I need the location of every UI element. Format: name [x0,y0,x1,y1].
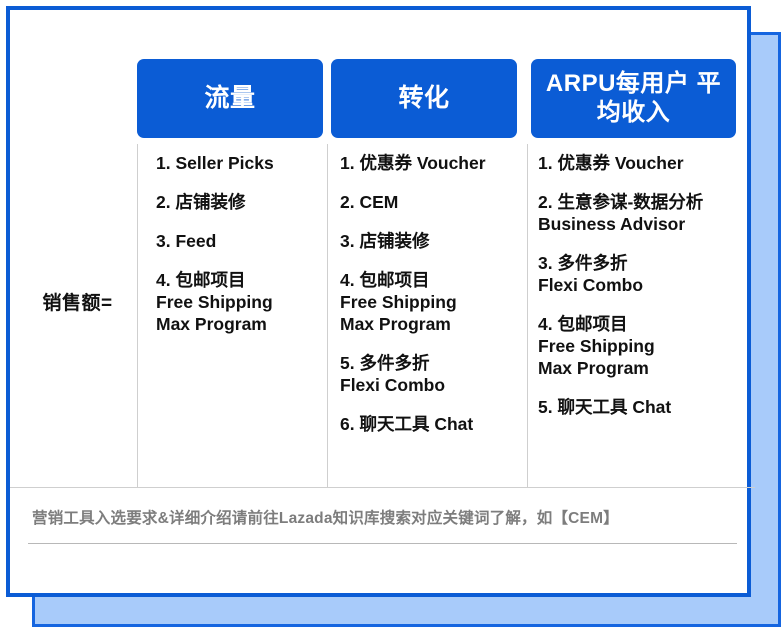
tool-list-item-line: 1. 优惠券 Voucher [340,152,520,174]
tool-list-item-line: 4. 包邮项目 [340,269,520,291]
tool-list-item[interactable]: 4. 包邮项目Free ShippingMax Program [538,313,743,379]
tool-list-item-line: 3. 店铺装修 [340,230,520,252]
tool-list-item-line: 1. 优惠券 Voucher [538,152,743,174]
tool-list-item[interactable]: 2. CEM [340,191,520,213]
column-body-conversion: 1. 优惠券 Voucher2. CEM3. 店铺装修4. 包邮项目Free S… [340,152,520,435]
tool-list-item-line: 6. 聊天工具 Chat [340,413,520,435]
tool-list-item-line: Business Advisor [538,213,743,235]
marketing-tool-matrix: 销售额= 流量 转化 ARPU每用户 平均收入 1. Seller Picks2… [10,10,747,593]
tool-list-item-line: Flexi Combo [340,374,520,396]
row-label-sales: 销售额= [20,288,135,315]
tool-list-item[interactable]: 1. Seller Picks [156,152,321,174]
tool-list-item[interactable]: 1. 优惠券 Voucher [340,152,520,174]
tool-list-item-line: 5. 多件多折 [340,352,520,374]
tool-list-item-line: 3. 多件多折 [538,252,743,274]
tool-list-item-line: Max Program [538,357,743,379]
tool-list-item[interactable]: 2. 店铺装修 [156,191,321,213]
tool-list-item[interactable]: 3. Feed [156,230,321,252]
column-body-traffic: 1. Seller Picks2. 店铺装修3. Feed4. 包邮项目Free… [156,152,321,335]
tool-list-item[interactable]: 4. 包邮项目Free ShippingMax Program [340,269,520,335]
tool-list-item-line: 2. 店铺装修 [156,191,321,213]
column-header-arpu-line-1: ARPU每用户 [546,70,690,97]
tool-list-item-line: 5. 聊天工具 Chat [538,396,743,418]
column-header-arpu[interactable]: ARPU每用户 平均收入 [531,59,736,138]
column-header-traffic[interactable]: 流量 [137,59,323,138]
tool-list-item-line: 2. 生意参谋-数据分析 [538,191,743,213]
tool-list-item-line: Free Shipping [340,291,520,313]
column-divider-middle [327,144,328,487]
tool-list-item-line: Free Shipping [538,335,743,357]
tool-list-item-line: Free Shipping [156,291,321,313]
footer-note: 营销工具入选要求&详细介绍请前往Lazada知识库搜索对应关键词了解，如【CEM… [32,506,738,528]
tool-list-item[interactable]: 3. 店铺装修 [340,230,520,252]
tool-list-item-line: Max Program [156,313,321,335]
rule-below-footer [28,543,737,544]
tool-list-item[interactable]: 6. 聊天工具 Chat [340,413,520,435]
column-body-arpu: 1. 优惠券 Voucher2. 生意参谋-数据分析Business Advis… [538,152,743,418]
tool-list-item-line: 4. 包邮项目 [538,313,743,335]
column-header-conversion[interactable]: 转化 [331,59,517,138]
tool-list-item-line: 2. CEM [340,191,520,213]
tool-list-item-line: Max Program [340,313,520,335]
content-card: 销售额= 流量 转化 ARPU每用户 平均收入 1. Seller Picks2… [6,6,751,597]
tool-list-item-line: 4. 包邮项目 [156,269,321,291]
tool-list-item-line: 1. Seller Picks [156,152,321,174]
tool-list-item[interactable]: 1. 优惠券 Voucher [538,152,743,174]
tool-list-item-line: 3. Feed [156,230,321,252]
rule-below-columns [10,487,755,488]
column-divider-right [527,144,528,487]
tool-list-item[interactable]: 2. 生意参谋-数据分析Business Advisor [538,191,743,235]
tool-list-item[interactable]: 5. 聊天工具 Chat [538,396,743,418]
tool-list-item[interactable]: 4. 包邮项目Free ShippingMax Program [156,269,321,335]
tool-list-item[interactable]: 3. 多件多折Flexi Combo [538,252,743,296]
column-divider-left [137,144,138,487]
tool-list-item-line: Flexi Combo [538,274,743,296]
tool-list-item[interactable]: 5. 多件多折Flexi Combo [340,352,520,396]
